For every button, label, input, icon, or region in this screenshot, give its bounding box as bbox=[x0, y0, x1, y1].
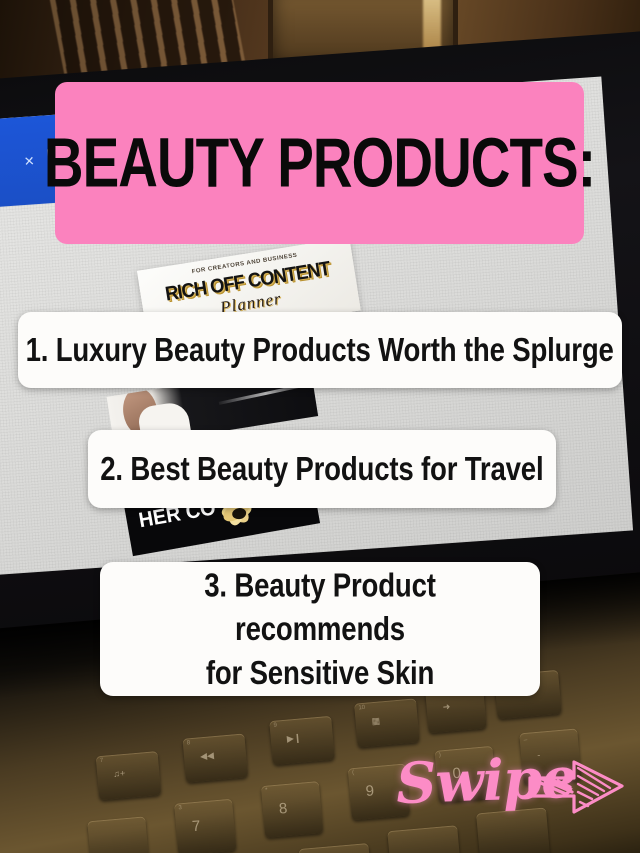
key-row3-c[interactable] bbox=[387, 825, 461, 853]
title-card: BEAUTY PRODUCTS: bbox=[55, 82, 584, 244]
list-item-2-text: 2. Best Beauty Products for Travel bbox=[100, 447, 543, 491]
key-row2-a[interactable] bbox=[87, 816, 149, 853]
list-item-1-text: 1. Luxury Beauty Products Worth the Splu… bbox=[26, 328, 614, 372]
list-item-1: 1. Luxury Beauty Products Worth the Splu… bbox=[18, 312, 622, 388]
list-item-2: 2. Best Beauty Products for Travel bbox=[88, 430, 556, 508]
close-x-icon[interactable]: ✕ bbox=[23, 154, 35, 168]
swipe-cta[interactable]: Swipe bbox=[396, 742, 628, 828]
list-item-3-line1: 3. Beauty Product recommends bbox=[118, 563, 523, 650]
key-fn-8[interactable]: 8◀◀ bbox=[182, 733, 248, 782]
list-item-3-text: 3. Beauty Product recommends for Sensiti… bbox=[118, 563, 523, 694]
key-fn-7[interactable]: 7♫+ bbox=[96, 751, 162, 800]
list-item-3: 3. Beauty Product recommends for Sensiti… bbox=[100, 562, 540, 696]
hand-drawn-arrow-right-icon bbox=[526, 748, 628, 824]
key-fn-9[interactable]: 9▶❙ bbox=[269, 716, 335, 765]
key-fn-10[interactable]: 10▦ bbox=[354, 698, 420, 747]
social-post-canvas: Logo ✕ FOR CREATORS AND BUSINESS RICH OF… bbox=[0, 0, 640, 853]
key-7[interactable]: 37 bbox=[174, 799, 236, 853]
page-title: BEAUTY PRODUCTS: bbox=[74, 67, 566, 258]
key-row3-b[interactable] bbox=[299, 843, 373, 853]
list-item-3-line2: for Sensitive Skin bbox=[118, 651, 523, 695]
key-8[interactable]: *8 bbox=[261, 781, 323, 838]
